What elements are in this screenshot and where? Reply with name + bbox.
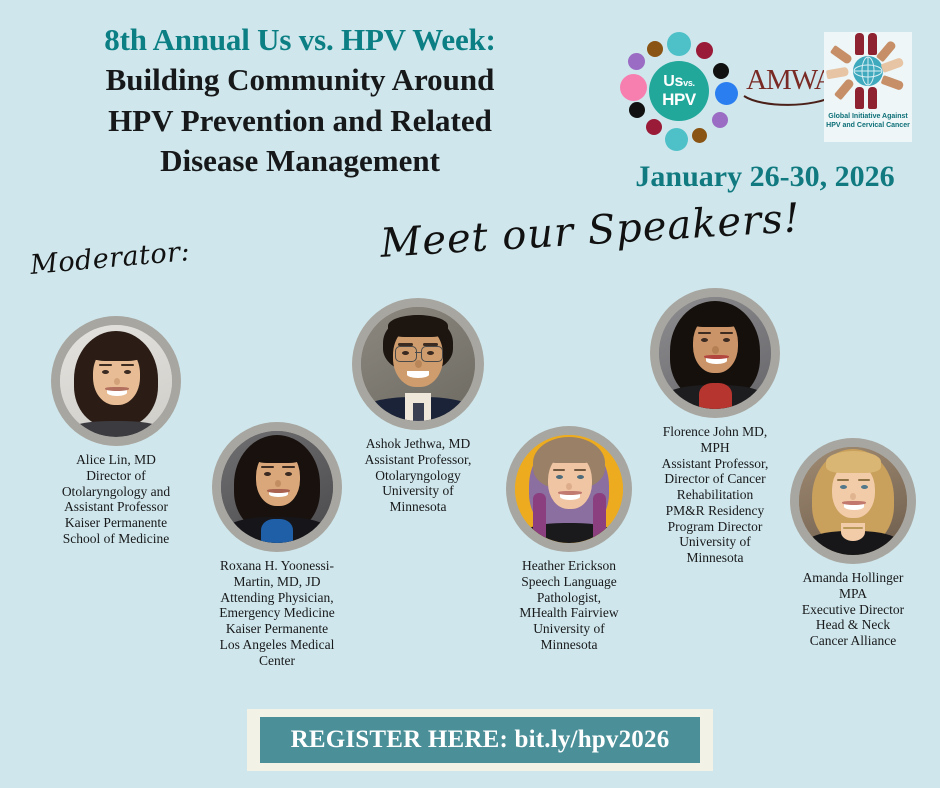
speaker-caption: Heather Erickson Speech Language Patholo… [478, 558, 660, 653]
logo-dot [712, 112, 728, 128]
avatar [51, 316, 181, 446]
logo-dot [628, 53, 645, 70]
moderator-heading: Moderator: [29, 236, 191, 281]
logo-dot [646, 119, 662, 135]
us-vs-hpv-logo: Usvs. HPV [620, 32, 738, 150]
hand-icon [855, 33, 864, 55]
logo-dot [715, 82, 738, 105]
speaker-caption: Amanda Hollinger MPA Executive Director … [766, 570, 940, 649]
avatar-photo [799, 447, 907, 555]
avatar [212, 422, 342, 552]
logo-row: Usvs. HPV AMWA [612, 28, 934, 153]
avatar [506, 426, 632, 552]
logo-dot [713, 63, 729, 79]
logo-dot [665, 128, 688, 151]
register-frame: REGISTER HERE: bit.ly/hpv2026 [247, 709, 713, 771]
logo-dot [667, 32, 691, 56]
avatar-photo [659, 297, 771, 409]
hand-icon [868, 87, 877, 109]
avatar-photo [515, 435, 623, 543]
avatar [352, 298, 484, 430]
avatar-photo [361, 307, 475, 421]
logo-text-us: Us [663, 73, 683, 90]
global-initiative-logo: Global Initiative Against HPV and Cervic… [824, 32, 912, 142]
globe-icon [853, 56, 883, 86]
hand-icon [868, 33, 877, 55]
logo-dot [620, 74, 647, 101]
event-title-line-2: Building Community Around [0, 60, 600, 101]
logo-text-hpv: HPV [662, 91, 696, 108]
avatar-photo [60, 325, 172, 437]
speaker-caption: Roxana H. Yoonessi- Martin, MD, JD Atten… [186, 558, 368, 668]
register-button[interactable]: REGISTER HERE: bit.ly/hpv2026 [260, 717, 700, 763]
global-initiative-caption: Global Initiative Against HPV and Cervic… [824, 112, 912, 131]
title-block: 8th Annual Us vs. HPV Week: Building Com… [0, 20, 600, 182]
hand-icon [834, 78, 855, 101]
speaker-card-amanda-hollinger: Amanda Hollinger MPA Executive Director … [766, 438, 940, 649]
meet-our-speakers-heading: Meet our Speakers! [379, 195, 802, 267]
logo-dot [647, 41, 663, 57]
logo-text-vs: vs. [683, 78, 695, 88]
event-title-line-3: HPV Prevention and Related [0, 101, 600, 142]
gi-caption-line-2: HPV and Cervical Cancer [826, 122, 910, 131]
us-vs-hpv-logo-core: Usvs. HPV [649, 61, 709, 121]
avatar [790, 438, 916, 564]
hand-icon [881, 75, 905, 91]
event-title-line-4: Disease Management [0, 141, 600, 182]
flyer-canvas: 8th Annual Us vs. HPV Week: Building Com… [0, 0, 940, 788]
gi-caption-line-1: Global Initiative Against [826, 113, 910, 122]
hand-icon [855, 87, 864, 109]
event-date: January 26-30, 2026 [595, 160, 935, 194]
hand-icon [830, 45, 853, 65]
avatar-photo [221, 431, 333, 543]
global-initiative-artwork [824, 32, 912, 112]
hand-icon [826, 67, 849, 80]
event-title-highlight: 8th Annual Us vs. HPV Week: [0, 20, 600, 60]
avatar [650, 288, 780, 418]
logo-dot [692, 128, 707, 143]
logo-dot [696, 42, 713, 59]
logo-dot [629, 102, 645, 118]
